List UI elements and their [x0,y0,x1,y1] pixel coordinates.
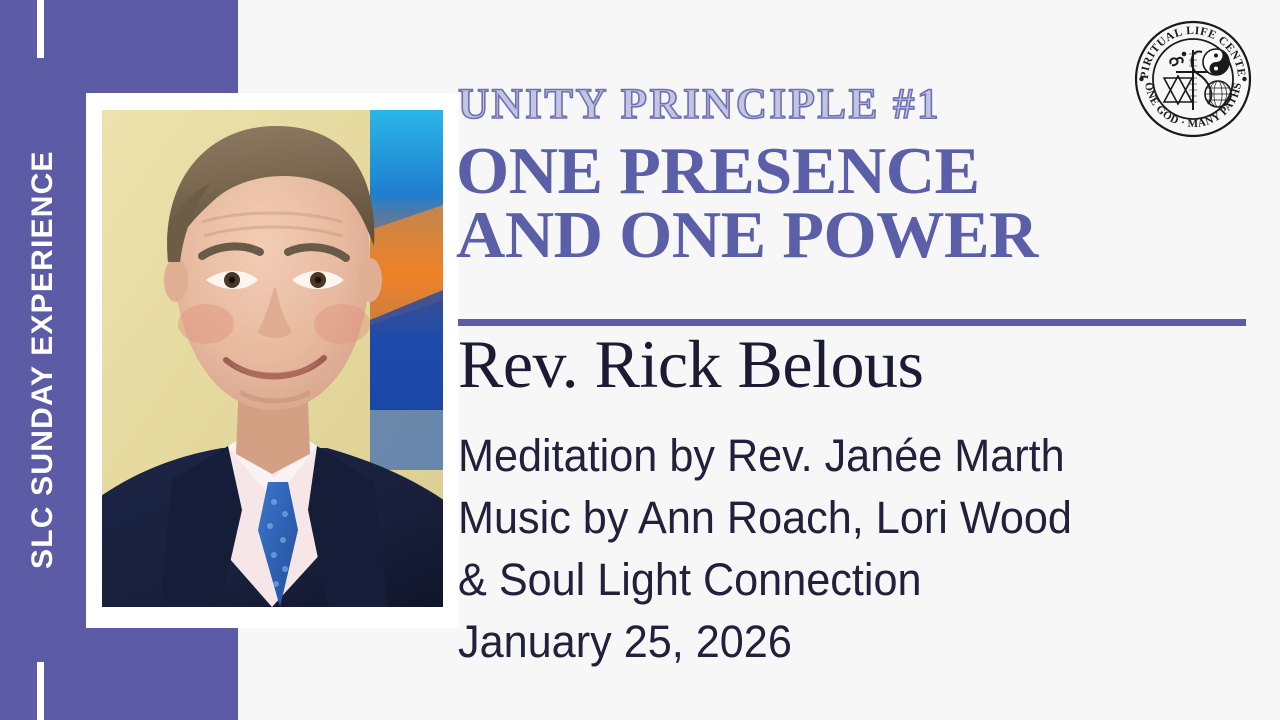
speaker-name: Rev. Rick Belous [458,330,923,398]
details-line-date: January 25, 2026 [458,611,1236,673]
headline-line-1: ONE PRESENCE [456,134,980,208]
page-title: ONE PRESENCE AND ONE POWER [456,140,1272,267]
portrait-photo [102,110,443,607]
sidebar-purple-top-extension [86,0,238,93]
details-line-meditation: Meditation by Rev. Janée Marth [458,425,1236,487]
spiritual-life-center-logo: SPIRITUAL LIFE CENTER ONE GOD · MANY PAT… [1132,18,1254,140]
details-line-music-cont: & Soul Light Connection [458,549,1236,611]
details-block: Meditation by Rev. Janée Marth Music by … [458,425,1236,673]
eyebrow-title: UNITY PRINCIPLE #1 [458,80,941,129]
logo-top-text: SPIRITUAL LIFE CENTER [1132,18,1247,79]
sidebar-purple-bottom-extension [86,628,238,720]
slide-canvas: SLC SUNDAY EXPERIENCE [0,0,1280,720]
divider-rule [458,319,1246,326]
svg-text:SPIRITUAL LIFE CENTER: SPIRITUAL LIFE CENTER [1132,18,1247,79]
sidebar-label: SLC SUNDAY EXPERIENCE [0,0,86,720]
details-line-music: Music by Ann Roach, Lori Wood [458,487,1236,549]
headline-line-2: AND ONE POWER [456,204,1272,268]
